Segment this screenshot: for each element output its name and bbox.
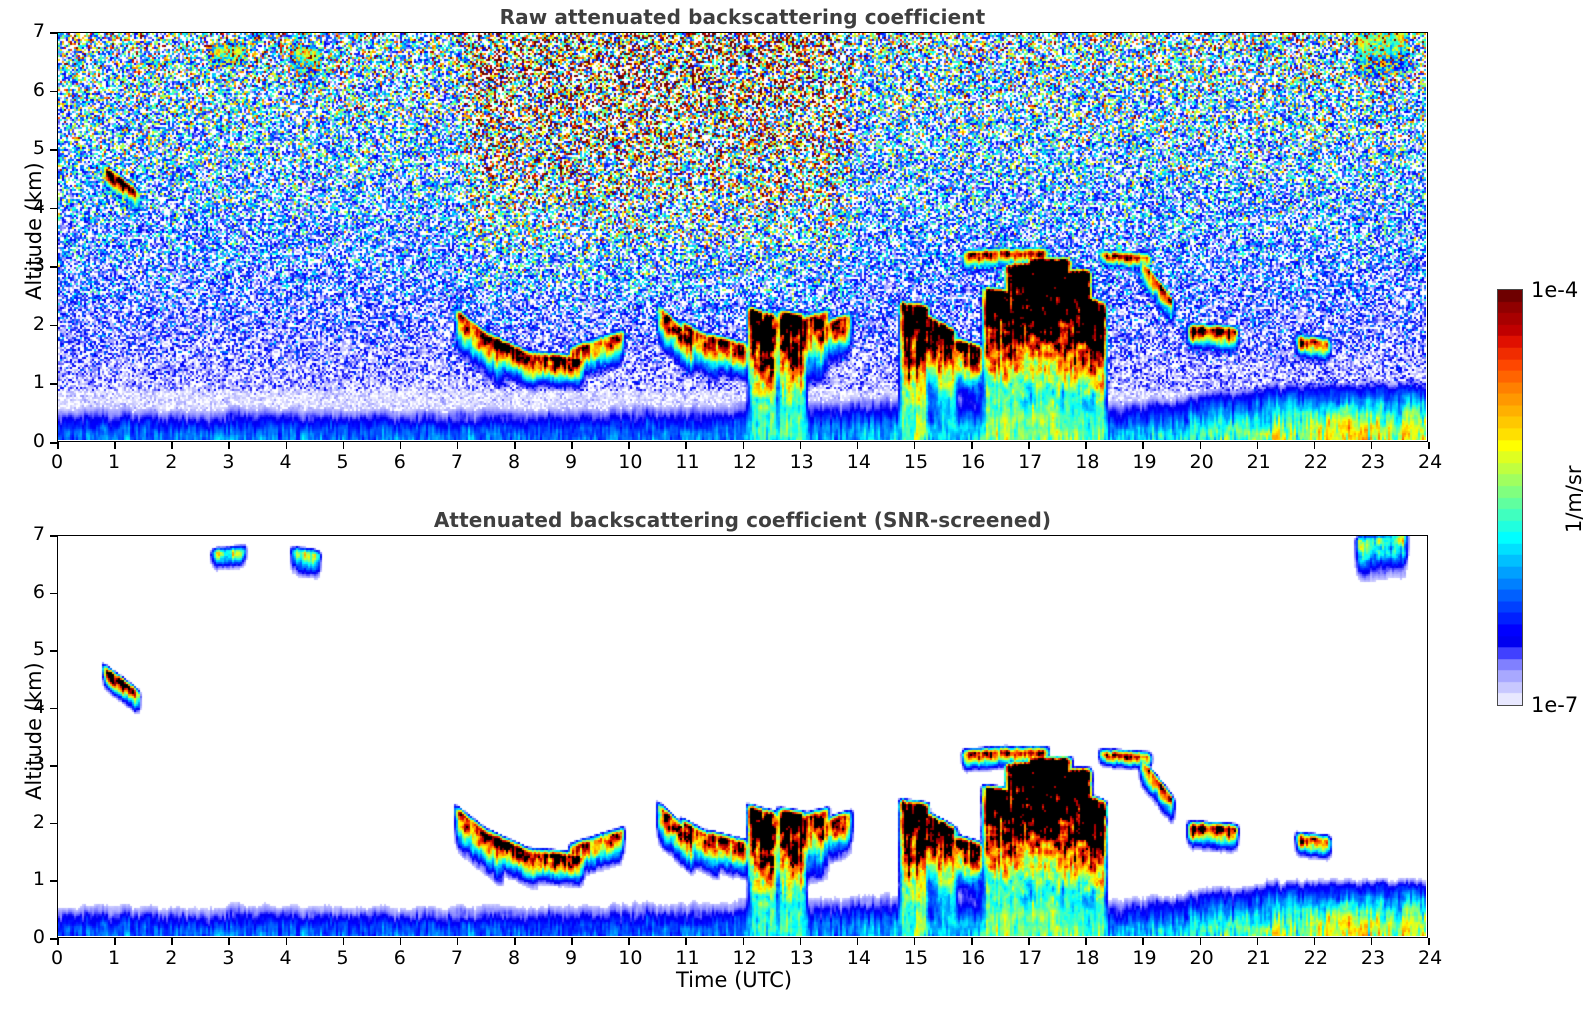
- x-tick: [800, 938, 802, 945]
- x-tick: [1371, 442, 1373, 449]
- x-tick-label: 19: [1132, 451, 1152, 473]
- x-tick-label: 17: [1018, 947, 1038, 969]
- x-tick: [685, 442, 687, 449]
- y-tick: [50, 32, 57, 34]
- y-tick: [50, 708, 57, 710]
- x-tick: [800, 442, 802, 449]
- figure-canvas: Raw attenuated backscattering coefficien…: [0, 0, 1595, 1020]
- x-tick: [514, 938, 516, 945]
- x-tick-label: 6: [390, 947, 410, 969]
- x-tick-label: 7: [447, 451, 467, 473]
- x-tick: [1200, 442, 1202, 449]
- y-tick-label: 0: [21, 430, 45, 452]
- x-tick: [400, 442, 402, 449]
- x-tick: [1257, 442, 1259, 449]
- x-tick-label: 20: [1190, 947, 1210, 969]
- x-tick: [171, 442, 173, 449]
- x-tick-label: 24: [1418, 947, 1438, 969]
- x-tick: [1371, 938, 1373, 945]
- x-tick: [857, 442, 859, 449]
- y-tick-label: 7: [21, 523, 45, 545]
- x-tick-label: 18: [1075, 947, 1095, 969]
- y-tick: [50, 266, 57, 268]
- x-tick: [286, 442, 288, 449]
- x-tick-label: 7: [447, 947, 467, 969]
- x-tick-label: 11: [675, 451, 695, 473]
- x-tick-label: 20: [1190, 451, 1210, 473]
- y-tick-label: 5: [21, 638, 45, 660]
- x-tick-label: 3: [218, 451, 238, 473]
- x-tick-label: 5: [333, 947, 353, 969]
- x-tick: [1314, 442, 1316, 449]
- colorbar-unit-label: 1/m/sr: [1562, 465, 1586, 533]
- x-tick-label: 14: [847, 947, 867, 969]
- x-tick: [1428, 938, 1430, 945]
- colorbar: [1497, 289, 1523, 706]
- plot-area-raw: [57, 32, 1428, 442]
- y-tick-label: 2: [21, 811, 45, 833]
- x-tick-label: 4: [276, 947, 296, 969]
- heatmap-raw: [58, 33, 1426, 440]
- x-tick-label: 21: [1247, 451, 1267, 473]
- panel-title-screened: Attenuated backscattering coefficient (S…: [57, 508, 1428, 532]
- y-tick: [50, 325, 57, 327]
- colorbar-max-label: 1e-4: [1531, 278, 1578, 302]
- x-tick: [228, 442, 230, 449]
- x-tick: [1142, 442, 1144, 449]
- x-tick-label: 0: [47, 947, 67, 969]
- plot-area-screened: [57, 535, 1428, 938]
- x-tick: [171, 938, 173, 945]
- x-tick: [628, 442, 630, 449]
- x-tick: [1428, 442, 1430, 449]
- y-tick-label: 6: [21, 79, 45, 101]
- x-tick-label: 15: [904, 451, 924, 473]
- y-tick: [50, 765, 57, 767]
- heatmap-screened: [58, 536, 1426, 936]
- x-tick: [57, 442, 59, 449]
- panel-title-raw: Raw attenuated backscattering coefficien…: [57, 5, 1428, 29]
- x-tick-label: 17: [1018, 451, 1038, 473]
- y-tick: [50, 91, 57, 93]
- y-tick-label: 7: [21, 20, 45, 42]
- colorbar-gradient: [1498, 290, 1522, 705]
- x-tick: [57, 938, 59, 945]
- x-tick-label: 23: [1361, 451, 1381, 473]
- y-tick-label: 1: [21, 868, 45, 890]
- y-tick: [50, 938, 57, 940]
- x-tick-label: 12: [733, 947, 753, 969]
- x-tick-label: 14: [847, 451, 867, 473]
- x-tick: [343, 938, 345, 945]
- x-tick: [571, 938, 573, 945]
- x-tick-label: 13: [790, 451, 810, 473]
- x-tick: [914, 938, 916, 945]
- x-tick: [114, 938, 116, 945]
- x-tick-label: 23: [1361, 947, 1381, 969]
- x-tick: [571, 442, 573, 449]
- x-axis-label: Time (UTC): [676, 968, 792, 992]
- y-tick: [50, 535, 57, 537]
- x-tick-label: 1: [104, 947, 124, 969]
- x-tick: [343, 442, 345, 449]
- x-tick: [914, 442, 916, 449]
- y-axis-label-screened: Altitude (km): [22, 662, 46, 800]
- x-tick: [1142, 938, 1144, 945]
- x-tick-label: 21: [1247, 947, 1267, 969]
- x-tick-label: 3: [218, 947, 238, 969]
- x-tick: [1257, 938, 1259, 945]
- y-tick-label: 1: [21, 371, 45, 393]
- x-tick: [286, 938, 288, 945]
- y-tick-label: 6: [21, 581, 45, 603]
- x-tick-label: 10: [618, 947, 638, 969]
- x-tick-label: 8: [504, 947, 524, 969]
- x-tick-label: 10: [618, 451, 638, 473]
- x-tick: [857, 938, 859, 945]
- y-tick: [50, 383, 57, 385]
- y-tick-label: 0: [21, 926, 45, 948]
- x-tick-label: 22: [1304, 947, 1324, 969]
- x-tick-label: 15: [904, 947, 924, 969]
- y-tick-label: 5: [21, 137, 45, 159]
- x-tick: [1028, 442, 1030, 449]
- y-axis-label-raw: Altitude (km): [22, 162, 46, 300]
- x-tick: [743, 938, 745, 945]
- x-tick: [628, 938, 630, 945]
- x-tick-label: 11: [675, 947, 695, 969]
- x-tick-label: 8: [504, 451, 524, 473]
- y-tick: [50, 149, 57, 151]
- x-tick: [743, 442, 745, 449]
- y-tick: [50, 650, 57, 652]
- x-tick-label: 5: [333, 451, 353, 473]
- x-tick: [1200, 938, 1202, 945]
- x-tick: [1085, 938, 1087, 945]
- x-tick: [114, 442, 116, 449]
- x-tick-label: 22: [1304, 451, 1324, 473]
- x-tick: [457, 938, 459, 945]
- y-tick: [50, 442, 57, 444]
- colorbar-min-label: 1e-7: [1531, 693, 1578, 717]
- x-tick-label: 2: [161, 451, 181, 473]
- x-tick: [457, 442, 459, 449]
- y-tick: [50, 208, 57, 210]
- x-tick-label: 16: [961, 451, 981, 473]
- y-tick: [50, 823, 57, 825]
- y-tick-label: 2: [21, 313, 45, 335]
- x-tick-label: 9: [561, 451, 581, 473]
- x-tick-label: 0: [47, 451, 67, 473]
- x-tick-label: 24: [1418, 451, 1438, 473]
- x-tick: [1314, 938, 1316, 945]
- x-tick-label: 6: [390, 451, 410, 473]
- x-tick-label: 12: [733, 451, 753, 473]
- x-tick-label: 1: [104, 451, 124, 473]
- x-tick-label: 4: [276, 451, 296, 473]
- x-tick: [971, 938, 973, 945]
- x-tick-label: 16: [961, 947, 981, 969]
- x-tick-label: 9: [561, 947, 581, 969]
- x-tick: [971, 442, 973, 449]
- x-tick-label: 2: [161, 947, 181, 969]
- y-tick: [50, 593, 57, 595]
- x-tick-label: 13: [790, 947, 810, 969]
- x-tick: [514, 442, 516, 449]
- y-tick: [50, 880, 57, 882]
- x-tick: [400, 938, 402, 945]
- x-tick-label: 19: [1132, 947, 1152, 969]
- x-tick: [1028, 938, 1030, 945]
- x-tick-label: 18: [1075, 451, 1095, 473]
- x-tick: [685, 938, 687, 945]
- x-tick: [1085, 442, 1087, 449]
- x-tick: [228, 938, 230, 945]
